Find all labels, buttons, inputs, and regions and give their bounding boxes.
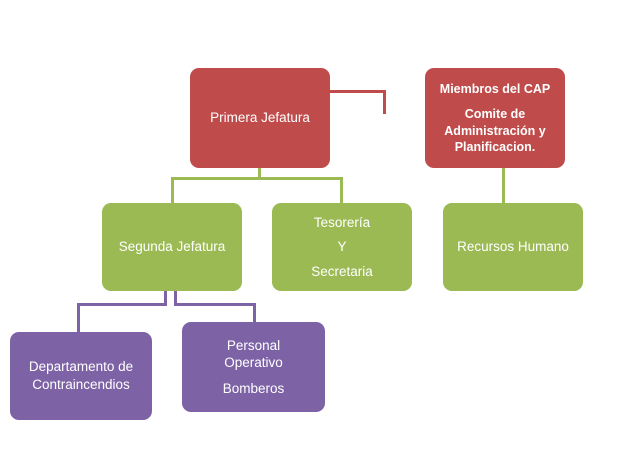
node-departamento-contraincendios-line-1: Departamento de [18, 358, 144, 376]
node-personal-operativo-bomberos[interactable]: Personal Operativo Bomberos [182, 322, 325, 412]
organigrama-canvas: Primera Jefatura Miembros del CAP Comite… [0, 0, 632, 472]
node-miembros-del-cap[interactable]: Miembros del CAP Comite de Administració… [425, 68, 565, 168]
node-primera-jefatura[interactable]: Primera Jefatura [190, 68, 330, 168]
node-personal-operativo-line-1: Personal [190, 337, 317, 355]
connector-to-departamento-contraincendios [77, 303, 80, 334]
node-departamento-de-contraincendios[interactable]: Departamento de Contraincendios [10, 332, 152, 420]
node-miembros-del-cap-title: Miembros del CAP [433, 81, 557, 97]
node-primera-jefatura-label: Primera Jefatura [198, 109, 322, 127]
node-personal-operativo-line-2: Operativo [190, 354, 317, 372]
connector-cap-to-recursos-humano [502, 167, 505, 205]
node-miembros-del-cap-body-line-2: Administración y [433, 123, 557, 139]
node-tesoreria-line-1: Tesorería [280, 214, 404, 232]
node-miembros-del-cap-body-line-3: Planificacion. [433, 139, 557, 155]
node-segunda-jefatura[interactable]: Segunda Jefatura [102, 203, 242, 291]
connector-to-tesoreria [340, 177, 343, 204]
connector-primera-jefatura-bar [171, 177, 343, 180]
connector-segunda-jefatura-right-bar [174, 303, 256, 306]
connector-to-segunda-jefatura [171, 177, 174, 204]
node-segunda-jefatura-label: Segunda Jefatura [110, 238, 234, 256]
node-tesoreria-line-2: Y [280, 238, 404, 256]
node-recursos-humano-label: Recursos Humano [451, 238, 575, 256]
connector-primera-jefatura-to-cap-vertical [383, 90, 386, 114]
node-departamento-contraincendios-line-2: Contraincendios [18, 376, 144, 394]
connector-primera-jefatura-to-cap-horizontal [328, 90, 386, 93]
node-recursos-humano[interactable]: Recursos Humano [443, 203, 583, 291]
node-personal-operativo-line-3: Bomberos [190, 380, 317, 398]
node-tesoreria-line-3: Secretaria [280, 263, 404, 281]
connector-segunda-jefatura-left-bar [77, 303, 167, 306]
node-tesoreria-y-secretaria[interactable]: Tesorería Y Secretaria [272, 203, 412, 291]
node-miembros-del-cap-body-line-1: Comite de [433, 106, 557, 122]
